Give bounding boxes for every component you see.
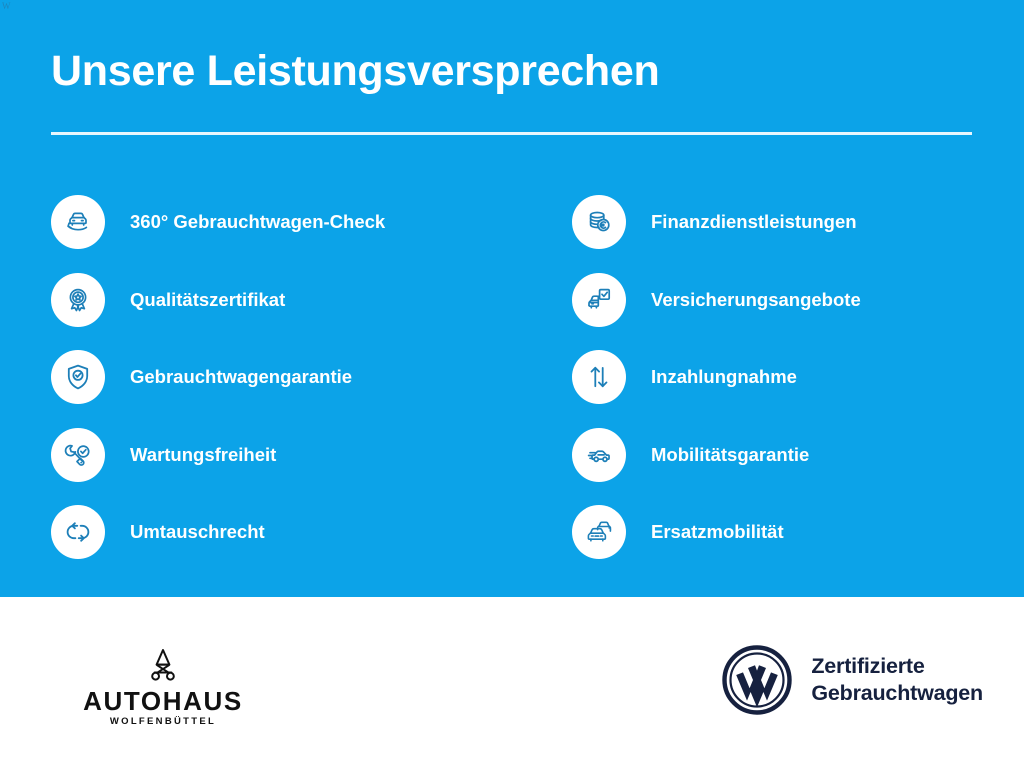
vw-line-2: Gebrauchtwagen [811, 680, 983, 707]
car-motion-icon [572, 428, 626, 482]
promise-label: Ersatzmobilität [651, 521, 784, 543]
promise-item[interactable]: Umtauschrecht [51, 505, 511, 583]
promise-item[interactable]: Versicherungsangebote [572, 273, 1024, 351]
autohaus-vehicle-mark-icon [143, 647, 183, 685]
promise-label: Mobilitätsgarantie [651, 444, 809, 466]
up-down-arrows-icon [572, 350, 626, 404]
promise-item[interactable]: Mobilitätsgarantie [572, 428, 1024, 506]
promise-item[interactable]: Gebrauchtwagengarantie [51, 350, 511, 428]
promise-item[interactable]: Ersatzmobilität [572, 505, 1024, 583]
promise-label: 360° Gebrauchtwagen-Check [130, 211, 385, 233]
promise-label: Umtauschrecht [130, 521, 265, 543]
two-cars-icon [572, 505, 626, 559]
promise-label: Finanzdienstleistungen [651, 211, 857, 233]
hero-panel: W Unsere Leistungsversprechen [0, 0, 1024, 597]
promise-label: Qualitätszertifikat [130, 289, 285, 311]
promise-item[interactable]: Finanzdienstleistungen [572, 195, 1024, 273]
promise-column-right: Finanzdienstleistungen [572, 195, 1024, 583]
promise-column-left: 360° Gebrauchtwagen-Check Qualitätszert [51, 195, 511, 583]
corner-artifact-glyph: W [2, 1, 14, 11]
promise-slide: W Unsere Leistungsversprechen [0, 0, 1024, 768]
dealer-logo: AUTOHAUS WOLFENBÜTTEL [43, 647, 283, 728]
award-ribbon-icon [51, 273, 105, 327]
exchange-arrows-icon [51, 505, 105, 559]
promise-item[interactable]: Qualitätszertifikat [51, 273, 511, 351]
shield-check-icon [51, 350, 105, 404]
volkswagen-logo-icon [721, 644, 793, 716]
vw-certified-text: Zertifizierte Gebrauchtwagen [811, 653, 983, 707]
dealer-city: WOLFENBÜTTEL [43, 716, 283, 728]
promise-label: Versicherungsangebote [651, 289, 861, 311]
promise-label: Inzahlungnahme [651, 366, 797, 388]
car-360-check-icon [51, 195, 105, 249]
promise-item[interactable]: 360° Gebrauchtwagen-Check [51, 195, 511, 273]
wrench-check-icon [51, 428, 105, 482]
coins-euro-icon [572, 195, 626, 249]
promise-item[interactable]: Inzahlungnahme [572, 350, 1024, 428]
promise-label: Wartungsfreiheit [130, 444, 276, 466]
vw-line-1: Zertifizierte [811, 653, 983, 680]
car-checkbox-icon [572, 273, 626, 327]
promise-item[interactable]: Wartungsfreiheit [51, 428, 511, 506]
vw-certified-badge: Zertifizierte Gebrauchtwagen [721, 644, 983, 716]
promise-label: Gebrauchtwagengarantie [130, 366, 352, 388]
page-title: Unsere Leistungsversprechen [51, 46, 659, 96]
title-divider [51, 132, 972, 135]
dealer-name: AUTOHAUS [43, 688, 283, 715]
footer: AUTOHAUS WOLFENBÜTTEL Zertifizierte Gebr… [0, 597, 1024, 768]
